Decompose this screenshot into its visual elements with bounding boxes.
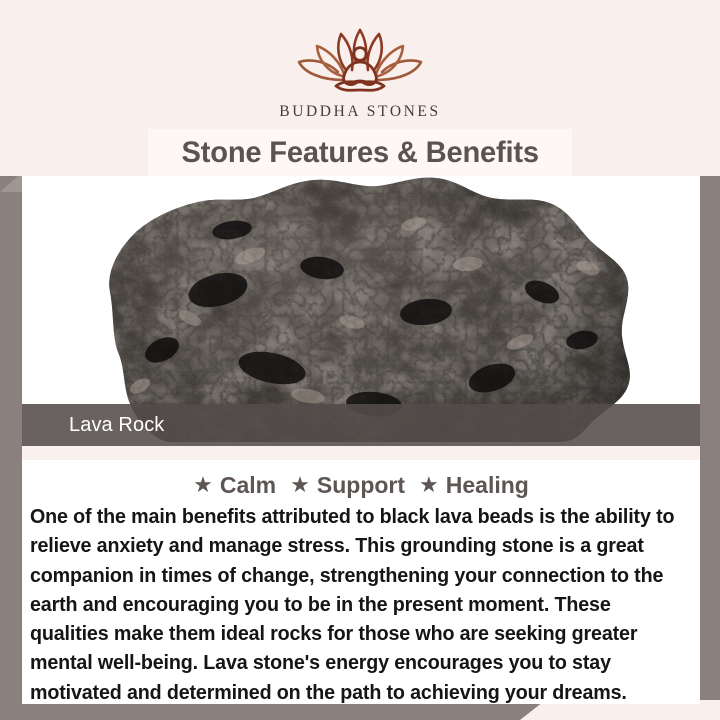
title-banner: Stone Features & Benefits <box>148 129 572 177</box>
star-icon: ★ <box>193 474 213 496</box>
photo-caption-band: Lava Rock <box>22 404 700 446</box>
section-divider <box>22 446 700 460</box>
brand-name: BUDDHA STONES <box>279 103 440 121</box>
benefit-label: Calm <box>220 472 276 499</box>
star-icon: ★ <box>290 474 310 496</box>
photo-caption-label: Lava Rock <box>69 414 164 437</box>
benefit-label: Healing <box>446 472 529 499</box>
header: BUDDHA STONES Stone Features & Benefits <box>0 0 720 176</box>
benefit-label: Support <box>317 472 405 499</box>
left-frame-bar <box>0 176 22 704</box>
benefit-item-calm: ★ Calm <box>193 472 276 499</box>
benefit-item-support: ★ Support <box>290 472 405 499</box>
star-icon: ★ <box>419 474 439 496</box>
description-paragraph: One of the main benefits attributed to b… <box>30 503 678 708</box>
poster-frame: BUDDHA STONES Stone Features & Benefits <box>0 0 720 720</box>
page-title: Stone Features & Benefits <box>181 136 538 170</box>
benefit-item-healing: ★ Healing <box>419 472 529 499</box>
benefits-row: ★ Calm ★ Support ★ Healing <box>22 468 700 502</box>
brand-logo: BUDDHA STONES <box>0 24 720 121</box>
lotus-meditation-figure-icon <box>284 24 436 96</box>
